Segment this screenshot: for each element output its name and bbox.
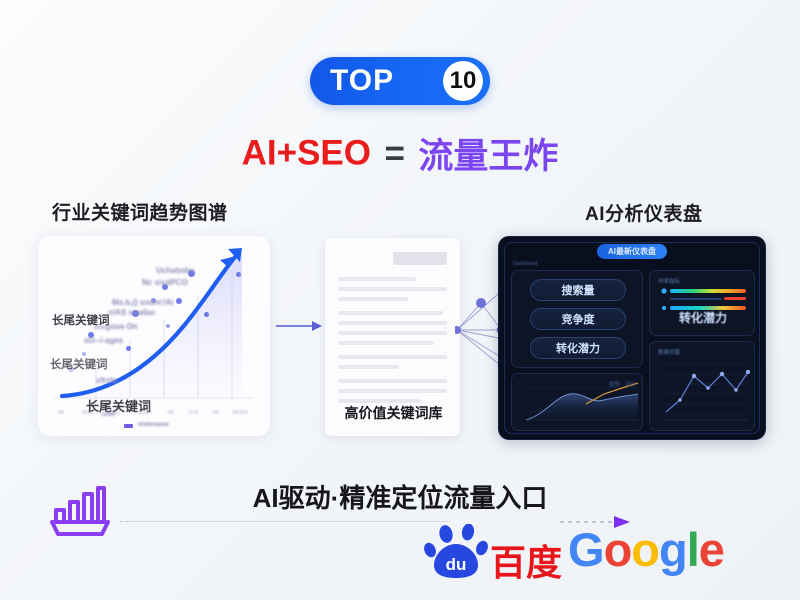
flow-arrow-right — [276, 320, 322, 332]
trend-blur-text: Uchabsbu — [156, 266, 195, 275]
doc-line — [338, 379, 447, 383]
trend-axis-note: -i3Nu — [100, 412, 115, 418]
google-logo-wordmark: Google — [568, 522, 724, 577]
google-letter: o — [604, 523, 632, 576]
metric-pill-conversion-potential[interactable]: 转化潜力 — [530, 337, 626, 359]
line-panel-title: 数据列置 — [658, 348, 680, 356]
doc-line — [338, 277, 416, 281]
doc-line — [338, 287, 447, 291]
trend-x-tick: 7iJ4 — [188, 410, 198, 416]
trend-blur-text: sO--/-ages — [84, 336, 123, 345]
trend-chart-svg — [38, 236, 270, 436]
dashboard-sub-label: Dashboard — [513, 261, 537, 267]
trend-dot — [176, 298, 182, 304]
connector-dotted-line — [120, 521, 450, 522]
top-badge-label: TOP — [330, 66, 394, 96]
google-letter: o — [631, 523, 659, 576]
metric-pill-search-volume[interactable]: 搜索量 — [530, 279, 626, 301]
trend-area-chart-panel: 趋势 · 对比 — [511, 373, 643, 431]
trend-blur-text: Ms.b,() snom'/Ai — [112, 298, 173, 307]
trend-dot — [126, 346, 131, 351]
headline-operator: = — [384, 134, 404, 173]
metric-pill-competition[interactable]: 竞争度 — [530, 308, 626, 330]
top-badge-number: 10 — [443, 61, 483, 101]
document-label: 高价值关键词库 — [326, 403, 461, 423]
doc-line — [338, 355, 447, 359]
trend-dot — [236, 272, 241, 277]
doc-line — [338, 365, 399, 369]
doc-line — [338, 311, 443, 315]
trend-blur-text: Nc sixdPCO — [142, 278, 188, 287]
headline: AI+SEO = 流量王炸 — [0, 128, 800, 179]
baidu-wordmark: 百度 — [490, 534, 562, 586]
doc-line — [338, 321, 447, 325]
trend-legend-label: kndwnaoie — [138, 422, 169, 428]
footer-tagline: AI驱动·精准定位流量入口 — [0, 478, 800, 515]
left-panel-title: 行业关键词趋势图谱 — [52, 198, 228, 225]
meter-overlay-label: 转化潜力 — [650, 309, 756, 326]
trend-label-longtail-2: 长尾关键词 — [50, 356, 108, 372]
trend-dot — [204, 312, 209, 317]
trend-label-longtail-1: 长尾关键词 — [52, 312, 110, 328]
google-letter: l — [687, 523, 699, 576]
trend-x-tick: 4it — [58, 410, 64, 416]
trend-x-tick: 3i0/kN — [232, 410, 248, 416]
doc-header-block — [393, 252, 447, 265]
area-chart-legend: 趋势 · 对比 — [609, 380, 636, 388]
dashboard-header-pill: AI最新仪表盘 — [597, 244, 667, 259]
ai-dashboard: AI最新仪表盘 Dashboard 搜索量 竞争度 转化潜力 趋势 · 对比 — [498, 236, 766, 440]
data-line-chart-panel: 数据列置 — [649, 341, 755, 431]
headline-right: 流量王炸 — [418, 137, 558, 176]
doc-line — [338, 331, 447, 335]
keyword-trend-card: Uchabsbu Nc sixdPCO Ms.b,() snom'/Ai o/A… — [38, 236, 270, 436]
meter-panel-title: 冲率指标 — [658, 277, 680, 285]
bar-chart-icon — [44, 482, 116, 546]
trend-x-tick: 3i3A; — [82, 410, 95, 416]
baidu-du-text: du — [446, 555, 467, 574]
doc-line — [338, 341, 434, 345]
top-rank-badge: TOP 10 — [310, 57, 490, 105]
trend-legend-swatch — [124, 424, 133, 428]
trend-blur-text: o/AS snailac — [108, 308, 156, 317]
doc-line — [338, 389, 447, 393]
conversion-meter-panel: 冲率指标 — [649, 270, 755, 336]
headline-left: AI+SEO — [242, 134, 371, 173]
trend-dot — [166, 324, 170, 328]
google-letter: G — [568, 523, 604, 576]
doc-line — [338, 297, 408, 301]
line-chart-svg — [650, 356, 756, 440]
trend-blur-text: xfrzln — [96, 376, 117, 385]
trend-x-tick: i4it — [212, 410, 219, 416]
metric-pills-panel: 搜索量 竞争度 转化潜力 — [511, 270, 643, 368]
trend-x-tick: -4it — [166, 410, 174, 416]
trend-x-tick: 1i3A4 — [138, 410, 152, 416]
right-panel-title: AI分析仪表盘 — [585, 199, 703, 226]
google-letter: g — [659, 523, 687, 576]
google-letter: e — [699, 523, 724, 576]
